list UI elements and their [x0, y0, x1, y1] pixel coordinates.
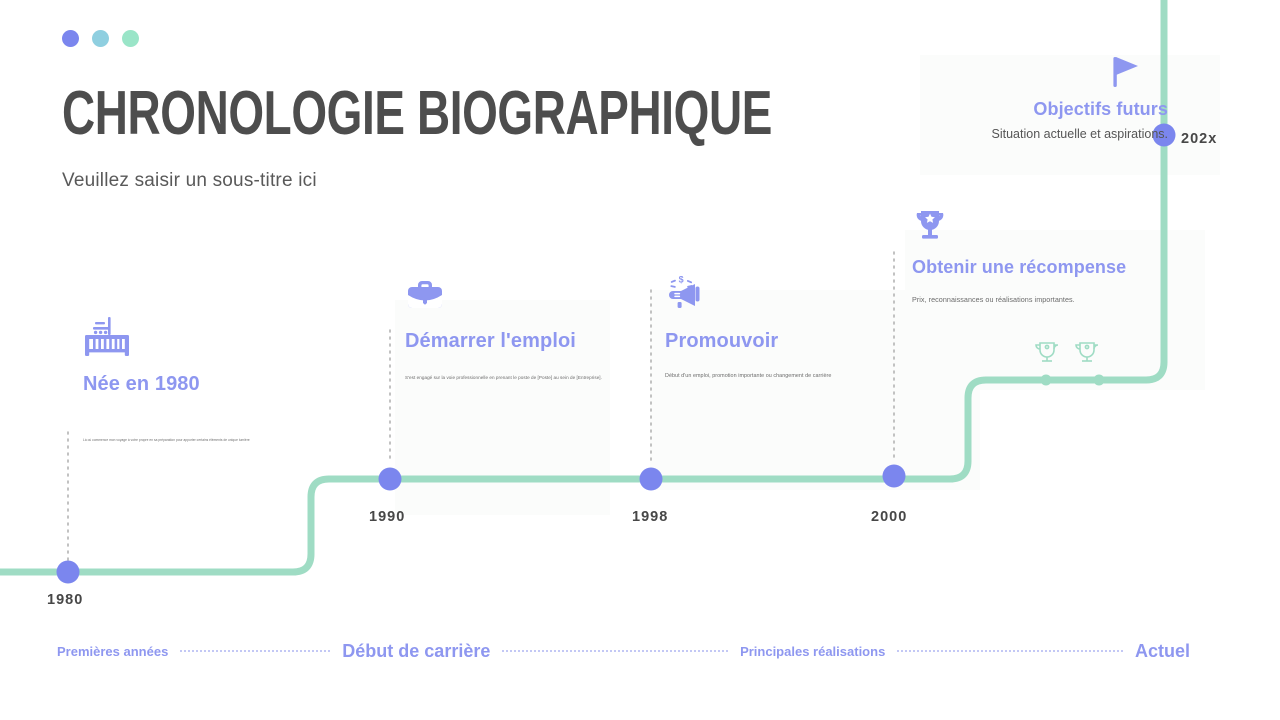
year-label-1990: 1990 — [369, 509, 405, 525]
year-label-2000: 2000 — [871, 509, 907, 525]
milestone-title: Promouvoir — [665, 330, 831, 353]
timeline-node-2000 — [883, 465, 906, 488]
dot-mint — [122, 30, 139, 47]
milestone-2000[interactable]: Obtenir une récompense Prix, reconnaissa… — [912, 207, 1126, 304]
milestone-1990[interactable]: Démarrer l'emploi S'est engagé sur la vo… — [405, 276, 602, 380]
timeline-node-1998 — [640, 468, 663, 491]
year-label-202x: 202x — [1181, 131, 1217, 147]
timeline-node-1990 — [379, 468, 402, 491]
crib-icon — [83, 315, 131, 359]
phase-bar: Premières années Début de carrière Princ… — [57, 639, 1190, 663]
year-label-1998: 1998 — [632, 509, 668, 525]
flag-icon — [1110, 55, 1146, 89]
milestone-description: Situation actuelle et aspirations. — [928, 127, 1168, 141]
trophy-icon-small — [1036, 343, 1058, 361]
milestone-description: S'est engagé sur la voie professionnelle… — [405, 375, 602, 380]
phase-label-actuel[interactable]: Actuel — [1135, 641, 1190, 662]
milestone-title: Née en 1980 — [83, 373, 250, 396]
phase-divider — [897, 650, 1123, 652]
year-label-1980: 1980 — [47, 592, 83, 608]
page-subtitle: Veuillez saisir un sous-titre ici — [62, 170, 317, 192]
milestone-1980[interactable]: Née en 1980 Là où commence mon voyage à … — [83, 315, 250, 442]
milestone-description: Début d'un emploi, promotion importante … — [665, 373, 831, 379]
milestone-title: Démarrer l'emploi — [405, 330, 602, 353]
timeline-subnode — [1094, 375, 1105, 386]
trophy-icon — [912, 207, 948, 243]
phase-label-principales-realisations[interactable]: Principales réalisations — [740, 644, 885, 659]
svg-text:$: $ — [679, 275, 684, 285]
milestone-description: Prix, reconnaissances ou réalisations im… — [912, 295, 1126, 304]
milestone-1998[interactable]: $ Promouvoir Début d'un emploi, promotio… — [665, 273, 831, 379]
milestone-title: Obtenir une récompense — [912, 257, 1126, 278]
milestone-description: Là où commence mon voyage à votre propre… — [83, 438, 250, 442]
megaphone-icon: $ — [665, 273, 705, 313]
trophy-icon-small — [1076, 343, 1098, 361]
briefcase-icon — [405, 276, 445, 314]
timeline-node-1980 — [57, 561, 80, 584]
dot-periwinkle — [62, 30, 79, 47]
phase-divider — [502, 650, 728, 652]
timeline-subnode — [1041, 375, 1052, 386]
dot-sky — [92, 30, 109, 47]
decorative-dots — [62, 30, 139, 47]
page-title: CHRONOLOGIE BIOGRAPHIQUE — [62, 82, 772, 146]
phase-label-premieres-annees[interactable]: Premières années — [57, 644, 168, 659]
phase-divider — [180, 650, 330, 652]
phase-label-debut-de-carriere[interactable]: Début de carrière — [342, 641, 490, 662]
milestone-title: Objectifs futurs — [928, 99, 1168, 120]
milestone-202x[interactable]: Objectifs futurs Situation actuelle et a… — [928, 55, 1168, 141]
